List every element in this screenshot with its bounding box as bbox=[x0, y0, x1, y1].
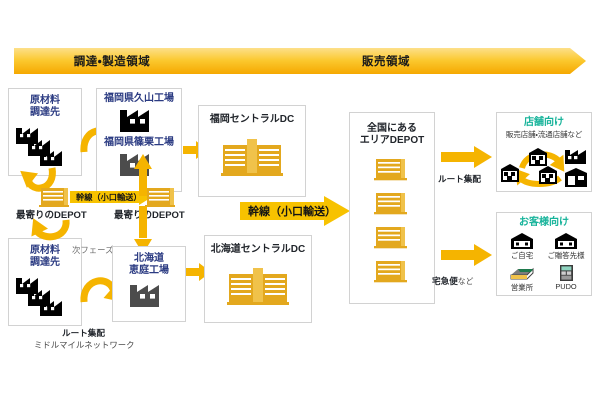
node-dc-hokkaido: 北海道セントラルDC bbox=[204, 235, 312, 323]
warehouse-icon-stack bbox=[372, 157, 412, 285]
banner-sales: 販売領域 bbox=[186, 48, 586, 74]
label-takkyubin-group: 宅急便など bbox=[432, 271, 473, 289]
house-icon bbox=[553, 232, 579, 250]
banner-procurement-label: 調達・製造領域 bbox=[74, 53, 150, 69]
arrow-depot-to-store bbox=[441, 146, 493, 168]
store-channel-title: 店舗向け bbox=[524, 117, 564, 129]
dc-fukuoka-title: 福岡セントラルDC bbox=[210, 114, 294, 126]
warehouse-icon bbox=[38, 185, 70, 209]
label-takkyubin-suffix: など bbox=[458, 277, 474, 286]
node-area-depot: 全国にある エリアDEPOT bbox=[349, 112, 435, 304]
banner-procurement: 調達・製造領域 bbox=[14, 48, 210, 74]
factory-icon bbox=[116, 106, 162, 136]
curved-arrow-depot-to-supplier-lower bbox=[22, 216, 74, 250]
store-network-icons bbox=[498, 140, 590, 190]
plant-eniwa-title: 北海道 恵庭工場 bbox=[129, 253, 169, 277]
label-next-phase: 次フェーズ bbox=[72, 244, 113, 256]
node-supplier-hokkaido: 原材料 調達先 bbox=[8, 238, 82, 326]
factory-icon bbox=[14, 272, 76, 318]
factory-icon bbox=[126, 281, 172, 311]
store-channel-subtitle: 販売店舗・流通店舗など bbox=[506, 130, 582, 139]
label-route-pickup-right: ルート集配 bbox=[438, 173, 481, 185]
label-route-pickup-left: ルート集配 bbox=[62, 327, 105, 339]
trunk-arrow-short-label: 幹線（小口輸送） bbox=[70, 191, 142, 203]
node-store-channel: 店舗向け 販売店舗・流通店舗など bbox=[496, 112, 592, 192]
customer-item-gift-label: ご贈答先様 bbox=[548, 250, 585, 261]
customer-item-office-label: 営業所 bbox=[511, 282, 533, 293]
dc-hokkaido-title: 北海道セントラルDC bbox=[211, 244, 305, 256]
area-depot-title: 全国にある エリアDEPOT bbox=[360, 123, 424, 147]
supplier-fukuoka-title: 原材料 調達先 bbox=[30, 95, 60, 119]
customer-item-home-label: ご自宅 bbox=[511, 250, 533, 261]
warehouse-icon bbox=[225, 264, 291, 310]
plant-sasaguri-title: 福岡県篠栗工場 bbox=[104, 137, 174, 149]
warehouse-icon bbox=[565, 168, 587, 187]
trunk-arrow-long-label: 幹線（小口輸送） bbox=[240, 203, 336, 219]
factory-icon bbox=[565, 150, 586, 164]
customer-item-home: ご自宅 bbox=[502, 232, 542, 261]
locker-icon bbox=[555, 264, 577, 282]
customer-item-pudo: PUDO bbox=[546, 264, 586, 293]
node-customer-channel: お客様向け ご自宅 ご贈答先様 bbox=[496, 212, 592, 296]
customer-channel-title: お客様向け bbox=[519, 217, 569, 229]
node-dc-fukuoka: 福岡セントラルDC bbox=[198, 105, 306, 197]
arrow-depot-to-customer bbox=[441, 244, 493, 266]
node-plant-eniwa: 北海道 恵庭工場 bbox=[112, 246, 186, 322]
house-icon bbox=[509, 232, 535, 250]
office-icon bbox=[507, 264, 537, 282]
label-takkyubin: 宅急便 bbox=[432, 276, 458, 286]
banner-sales-label: 販売領域 bbox=[362, 53, 410, 69]
customer-item-pudo-label: PUDO bbox=[555, 282, 576, 291]
trunk-arrow-long: 幹線（小口輸送） bbox=[240, 196, 350, 226]
customer-item-gift: ご贈答先様 bbox=[546, 232, 586, 261]
label-middle-mile-network: ミドルマイルネットワーク bbox=[34, 339, 135, 351]
diagram-canvas: 調達・製造領域 販売領域 原材料 調達先 bbox=[0, 0, 600, 400]
customer-item-office: 営業所 bbox=[502, 264, 542, 293]
arrow-vertical-depot-plants bbox=[133, 150, 153, 260]
warehouse-icon bbox=[219, 135, 285, 181]
plant-hisayama-title: 福岡県久山工場 bbox=[104, 93, 174, 105]
